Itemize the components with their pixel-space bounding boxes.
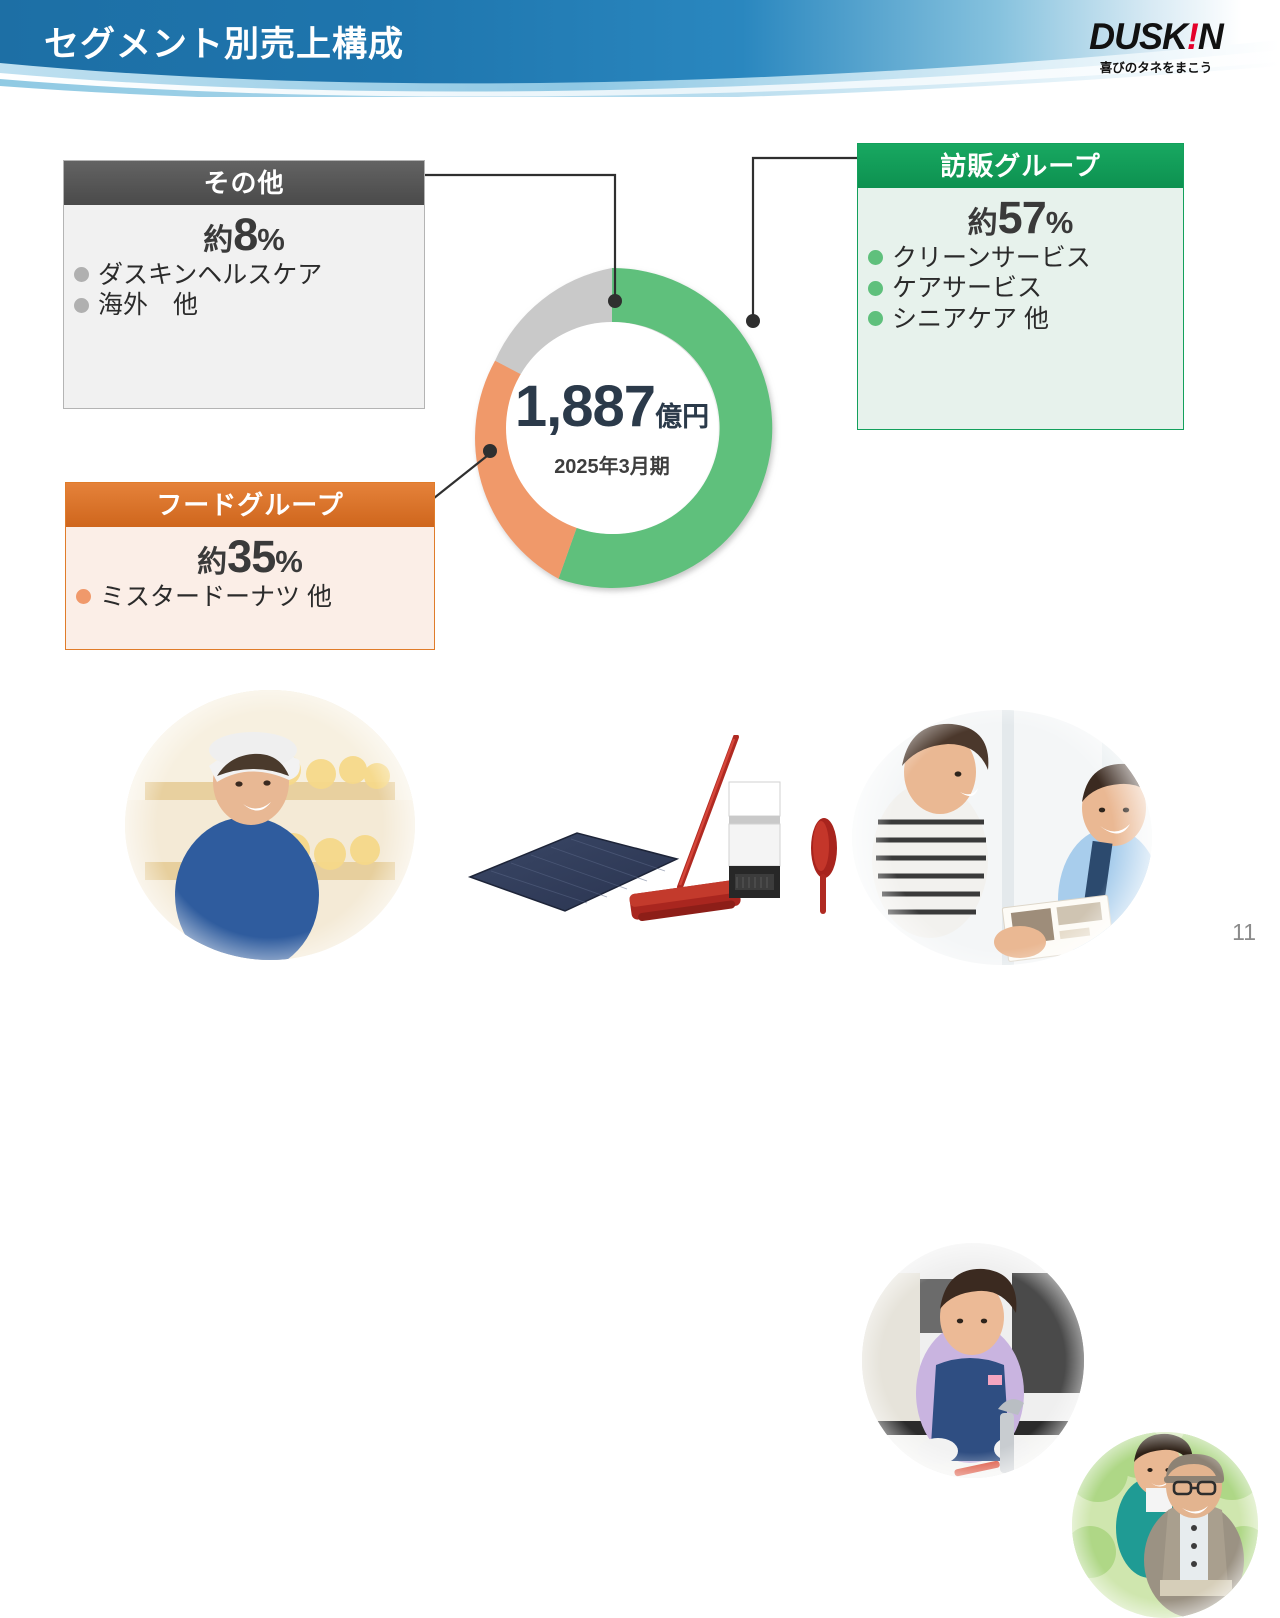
callout-houhan-percent: 約57% xyxy=(868,194,1173,243)
logo-tagline: 喜びのタネをまこう xyxy=(1056,57,1256,76)
bullet-dot-icon xyxy=(76,589,91,604)
list-item-label: ケアサービス xyxy=(892,273,1042,304)
callout-food-body: 約35% ミスタードーナツ 他 xyxy=(66,527,434,649)
list-item: 海外 他 xyxy=(74,290,414,321)
callout-box-food[interactable]: フードグループ 約35% ミスタードーナツ 他 xyxy=(65,482,435,650)
list-item: ケアサービス xyxy=(868,273,1173,304)
page-number: 11 xyxy=(1232,919,1256,946)
list-item: クリーンサービス xyxy=(868,243,1173,274)
logo-word-part-2: N xyxy=(1198,16,1223,57)
houhan-percent-symbol: % xyxy=(1046,205,1074,240)
houhan-percent-value: 57 xyxy=(998,192,1046,243)
list-item-label: クリーンサービス xyxy=(892,243,1091,274)
bullet-dot-icon xyxy=(868,250,883,265)
bullet-dot-icon xyxy=(868,281,883,296)
food-percent-symbol: % xyxy=(275,544,303,579)
bullet-dot-icon xyxy=(74,267,89,282)
senior-care-photo xyxy=(1072,1432,1258,1618)
food-percent-value: 35 xyxy=(227,531,275,582)
list-item-label: ダスキンヘルスケア xyxy=(98,260,322,291)
list-item: ミスタードーナツ 他 xyxy=(76,582,424,613)
callout-food-list: ミスタードーナツ 他 xyxy=(76,582,424,613)
callout-houhan-body: 約57% クリーンサービス ケアサービス シニアケア 他 xyxy=(858,188,1183,429)
callout-food-title: フードグループ xyxy=(66,483,434,527)
list-item: ダスキンヘルスケア xyxy=(74,260,414,291)
logo-word-part-1: DUSK xyxy=(1089,16,1187,57)
list-item-label: シニアケア 他 xyxy=(892,304,1049,335)
callout-other-title: その他 xyxy=(64,161,424,205)
callout-box-houhan[interactable]: 訪販グループ 約57% クリーンサービス ケアサービス シニアケア 他 xyxy=(857,143,1184,430)
callout-food-percent: 約35% xyxy=(76,533,424,582)
bullet-dot-icon xyxy=(868,311,883,326)
page-title: セグメント別売上構成 xyxy=(44,16,404,67)
duskin-logo: DUSK!N 喜びのタネをまこう xyxy=(1056,18,1256,76)
bullet-dot-icon xyxy=(74,298,89,313)
food-approx-label: 約 xyxy=(197,546,227,579)
logo-exclamation-icon: ! xyxy=(1187,16,1198,57)
list-item: シニアケア 他 xyxy=(868,304,1173,335)
list-item-label: 海外 他 xyxy=(98,290,198,321)
logo-wordmark: DUSK!N xyxy=(1059,18,1253,55)
callout-other-percent: 約8% xyxy=(74,211,414,260)
houhan-approx-label: 約 xyxy=(968,207,998,240)
house-cleaning-staff-photo xyxy=(862,1243,1084,1478)
callout-other-body: 約8% ダスキンヘルスケア 海外 他 xyxy=(64,205,424,408)
other-percent-symbol: % xyxy=(257,222,285,257)
callout-box-other[interactable]: その他 約8% ダスキンヘルスケア 海外 他 xyxy=(63,160,425,409)
callout-houhan-list: クリーンサービス ケアサービス シニアケア 他 xyxy=(868,243,1173,335)
list-item-label: ミスタードーナツ 他 xyxy=(100,582,332,613)
callout-houhan-title: 訪販グループ xyxy=(858,144,1183,188)
other-approx-label: 約 xyxy=(203,224,233,257)
other-percent-value: 8 xyxy=(233,209,257,260)
callout-other-list: ダスキンヘルスケア 海外 他 xyxy=(74,260,414,321)
